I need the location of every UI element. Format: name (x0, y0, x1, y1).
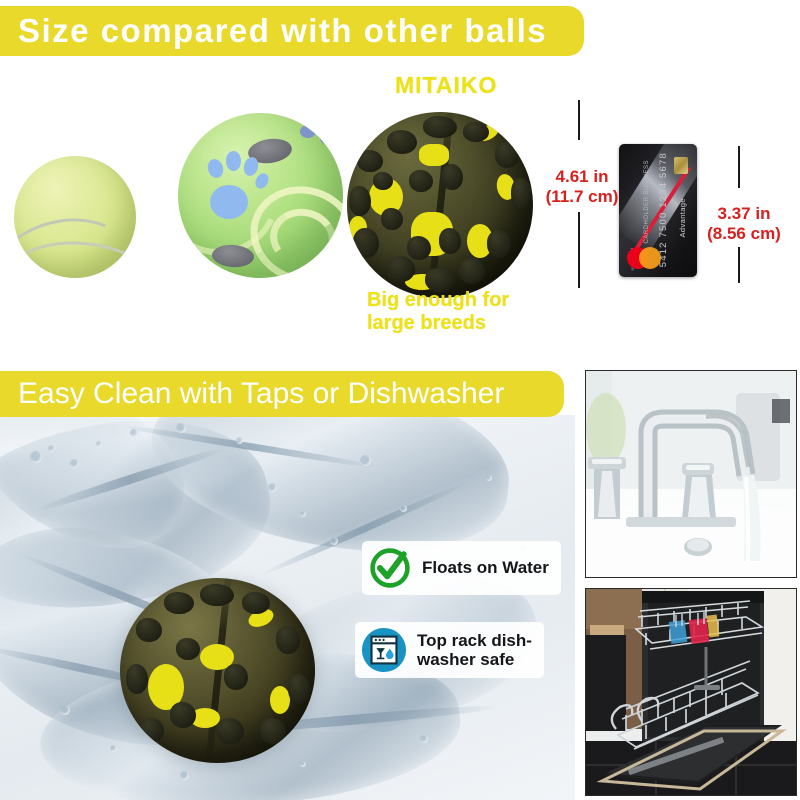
ball-nub (441, 164, 463, 190)
ball-nub (387, 130, 417, 154)
water-droplet (70, 459, 79, 468)
ball-nub (439, 228, 461, 254)
mastercard-logo-icon (627, 247, 661, 269)
ball-nub (373, 172, 393, 190)
ball-nub (170, 702, 196, 728)
ball-nub (495, 142, 519, 168)
mastercard-yellow-circle (639, 247, 661, 269)
card-dimension-cm: (8.56 cm) (692, 224, 796, 244)
water-droplet (300, 761, 306, 767)
water-droplet (176, 423, 186, 433)
ball-nub (176, 638, 200, 660)
feature-dishwasher-line1: Top rack dish- (417, 631, 532, 650)
water-droplet (400, 505, 407, 512)
ball-nub (407, 236, 431, 260)
faucet-illustration (586, 371, 797, 578)
water-droplet (300, 511, 306, 517)
dimension-line-ball-bottom (578, 212, 580, 288)
ball-nub (423, 116, 457, 138)
water-droplet (486, 475, 492, 481)
ball-nub (136, 618, 162, 642)
feature-dishwasher-label: Top rack dish- washer safe (417, 631, 532, 669)
ball-nub (200, 584, 234, 606)
mitaiko-dog-ball (347, 112, 533, 298)
dishwasher-illustration (586, 589, 797, 796)
water-droplet (236, 437, 243, 444)
ball-nub (276, 626, 300, 654)
faucet-photo (585, 370, 797, 578)
card-holder-name: CARDHOLDER BUSINESS (643, 160, 651, 244)
water-droplet (60, 705, 70, 715)
green-paw-ball (178, 113, 343, 278)
product-tagline-label: Big enough for large breeds (367, 289, 542, 335)
ball-nub (242, 592, 270, 614)
dimension-line-ball-top (578, 100, 580, 140)
water-droplet (420, 735, 428, 743)
water-droplet (30, 451, 42, 463)
banner-top-text: Size compared with other balls (18, 12, 547, 50)
ball-dimension-label: 4.61 in (11.7 cm) (534, 167, 630, 206)
yellow-accent (270, 686, 290, 714)
product-infographic: Size compared with other balls (0, 0, 800, 800)
feature-floats-label: Floats on Water (422, 558, 549, 577)
paw-dot (300, 125, 316, 138)
ball-nub (487, 230, 511, 258)
paw-toe-icon (226, 151, 241, 171)
dishwasher-photo (585, 588, 797, 796)
ball-dimension-cm: (11.7 cm) (534, 187, 630, 207)
feature-dishwasher-safe: Top rack dish- washer safe (355, 622, 544, 678)
product-brand-label: MITAIKO (395, 72, 497, 99)
ball-nub (381, 208, 403, 230)
card-dimension-label: 3.37 in (8.56 cm) (692, 204, 796, 243)
water-droplet (110, 745, 117, 752)
paw-dot (320, 133, 333, 144)
ball-nub (216, 718, 244, 744)
banner-size-compared: Size compared with other balls (0, 6, 584, 56)
ball-nub (409, 170, 433, 192)
ball-nub (353, 228, 379, 258)
water-droplet (48, 445, 55, 452)
green-check-icon (368, 546, 412, 590)
dishwasher-icon (361, 627, 407, 673)
water-droplet (360, 455, 371, 466)
dimension-line-card-top (738, 146, 740, 188)
tennis-ball (14, 156, 136, 278)
ball-nub (459, 258, 485, 284)
card-chip-icon (674, 157, 688, 174)
ball-nub (140, 718, 164, 742)
ball-nub (288, 674, 310, 704)
ball-nub (126, 664, 148, 694)
ball-dimension-inches: 4.61 in (534, 167, 630, 187)
mitaiko-ball-in-water (120, 578, 315, 763)
dimension-line-card-bottom (738, 247, 740, 283)
ball-nub (260, 718, 286, 744)
water-droplet (330, 537, 338, 545)
paw-print-icon (210, 185, 248, 219)
ball-nub (357, 150, 383, 172)
credit-card: 5412 7500 1234 5678 CARDHOLDER BUSINESS … (619, 144, 697, 277)
ball-nub (463, 122, 489, 142)
ball-nub (387, 256, 415, 282)
banner-mid-text: Easy Clean with Taps or Dishwasher (18, 377, 504, 411)
water-droplet (96, 441, 102, 447)
water-droplet (130, 429, 138, 437)
water-droplet (180, 771, 189, 780)
ball-nub (224, 664, 248, 690)
water-droplet (268, 483, 277, 492)
card-dimension-inches: 3.37 in (692, 204, 796, 224)
yellow-accent (419, 144, 449, 166)
ball-nub (164, 592, 194, 614)
card-brand-name: Advantage (678, 198, 687, 237)
ball-nub (511, 178, 531, 210)
feature-floats-on-water: Floats on Water (362, 541, 561, 595)
ball-nub (349, 186, 371, 216)
banner-easy-clean: Easy Clean with Taps or Dishwasher (0, 371, 564, 417)
feature-dishwasher-line2: washer safe (417, 650, 514, 669)
